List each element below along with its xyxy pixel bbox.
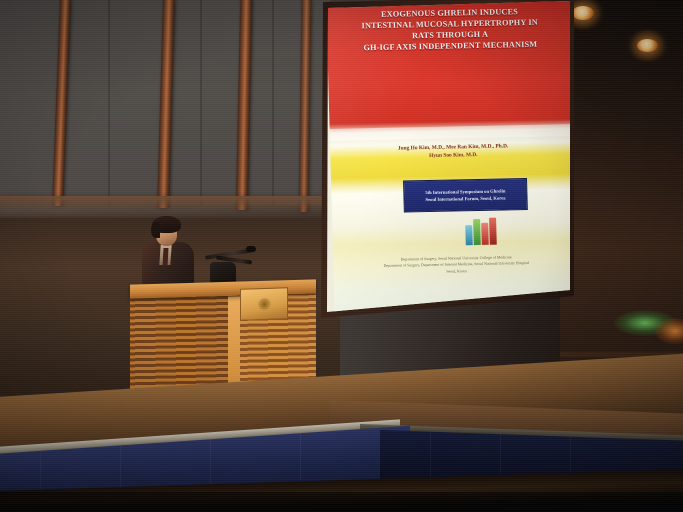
presentation-slide: EXOGENOUS GHRELIN INDUCES INTESTINAL MUC… — [326, 0, 576, 316]
speaker-figure — [138, 216, 200, 290]
slide-conference-box: 5th International Symposium on Ghrelin S… — [403, 178, 528, 212]
slide-institution-logo-icon — [460, 215, 501, 246]
foreground-shadow — [0, 492, 683, 512]
conference-photo-scene: EXOGENOUS GHRELIN INDUCES INTESTINAL MUC… — [0, 0, 683, 512]
slide-divider-band — [330, 124, 576, 141]
slide-footer: Department of Surgery, Seoul National Un… — [339, 253, 573, 277]
ceiling-spotlight-icon — [637, 39, 658, 52]
slide-authors: Jung Ho Kim, M.D., Mee Ran Kim, M.D., Ph… — [338, 141, 568, 162]
institution-crest-icon — [258, 297, 271, 310]
slide-title: EXOGENOUS GHRELIN INDUCES INTESTINAL MUC… — [334, 5, 565, 54]
speaker-hair-side — [151, 222, 160, 238]
lectern-plaque — [240, 287, 288, 321]
microphone-head-icon — [246, 246, 256, 252]
projection-screen: EXOGENOUS GHRELIN INDUCES INTESTINAL MUC… — [318, 0, 576, 322]
presenter-laptop — [210, 262, 236, 284]
screen-surface: EXOGENOUS GHRELIN INDUCES INTESTINAL MUC… — [318, 0, 576, 322]
speaker-tie — [163, 248, 169, 266]
